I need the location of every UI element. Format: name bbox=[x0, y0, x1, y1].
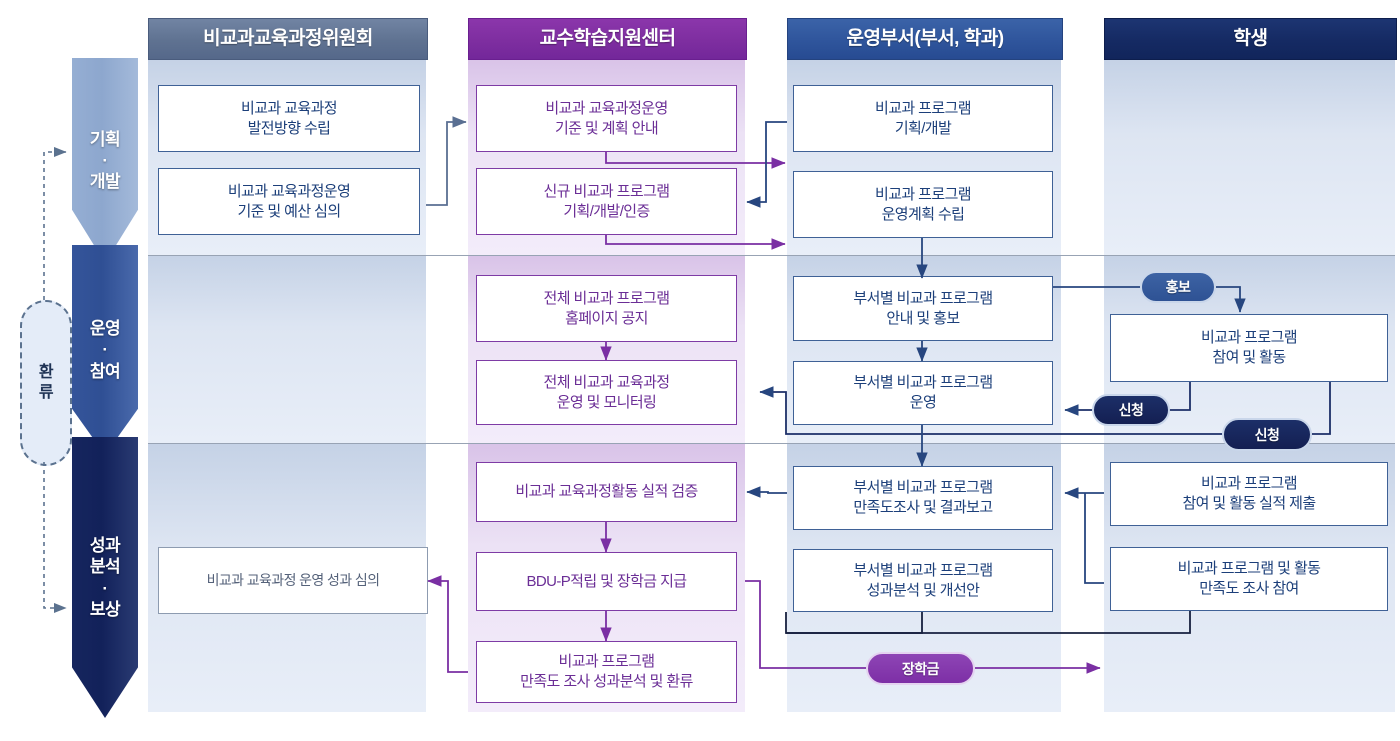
box-center-result-1-line1: 비교과 교육과정활동 실적 검증 bbox=[515, 483, 697, 500]
box-dept-operate-1[interactable]: 부서별 비교과 프로그램 안내 및 홍보 bbox=[793, 276, 1053, 341]
column-header-committee-label: 비교과교육과정위원회 bbox=[203, 28, 373, 49]
column-header-committee: 비교과교육과정위원회 bbox=[148, 18, 428, 60]
box-center-result-1[interactable]: 비교과 교육과정활동 실적 검증 bbox=[476, 462, 737, 522]
stage-plan-line1: 기획 bbox=[90, 129, 120, 150]
stage-operate-line1: 운영 bbox=[90, 318, 120, 339]
feedback-label-line2: 류 bbox=[39, 383, 53, 403]
row-divider-1 bbox=[148, 255, 1395, 256]
stage-result-line1: 성과 bbox=[90, 535, 120, 556]
box-center-result-3[interactable]: 비교과 프로그램 만족도 조사 성과분석 및 환류 bbox=[476, 641, 737, 703]
box-center-operate-1-line2: 홈페이지 공지 bbox=[565, 310, 648, 327]
box-dept-result-2[interactable]: 부서별 비교과 프로그램 성과분석 및 개선안 bbox=[793, 549, 1053, 612]
box-center-operate-1-line1: 전체 비교과 프로그램 bbox=[544, 290, 670, 307]
box-dept-result-2-line2: 성과분석 및 개선안 bbox=[867, 582, 980, 599]
box-dept-plan-1-line2: 기획/개발 bbox=[895, 120, 951, 137]
box-dept-operate-2-line1: 부서별 비교과 프로그램 bbox=[853, 374, 992, 391]
box-dept-operate-1-line1: 부서별 비교과 프로그램 bbox=[853, 290, 992, 307]
column-header-dept-label: 운영부서(부서, 학과) bbox=[846, 28, 1003, 49]
box-center-plan-2[interactable]: 신규 비교과 프로그램 기획/개발/인증 bbox=[476, 168, 737, 235]
box-dept-operate-1-line2: 안내 및 홍보 bbox=[886, 310, 959, 327]
box-center-operate-1[interactable]: 전체 비교과 프로그램 홈페이지 공지 bbox=[476, 275, 737, 342]
box-dept-result-1[interactable]: 부서별 비교과 프로그램 만족도조사 및 결과보고 bbox=[793, 466, 1053, 530]
stage-arrow-result: 성과 분석 · 보상 bbox=[72, 437, 138, 718]
badge-apply-2[interactable]: 신청 bbox=[1222, 418, 1312, 451]
wire-feedback-to-result bbox=[44, 462, 66, 608]
stage-plan-line2: 개발 bbox=[90, 171, 120, 192]
stage-arrow-operate: 운영 · 참여 bbox=[72, 245, 138, 455]
box-center-result-2-line1: BDU-P적립 및 장학금 지급 bbox=[527, 573, 687, 590]
row-divider-2 bbox=[148, 443, 1395, 444]
box-student-operate-1[interactable]: 비교과 프로그램 참여 및 활동 bbox=[1110, 314, 1388, 382]
band-committee-operate bbox=[148, 256, 426, 443]
badge-scholarship-label: 장학금 bbox=[902, 659, 939, 679]
box-dept-operate-2-line2: 운영 bbox=[910, 394, 936, 411]
box-dept-result-2-line1: 부서별 비교과 프로그램 bbox=[853, 562, 992, 579]
column-header-dept: 운영부서(부서, 학과) bbox=[787, 18, 1063, 60]
column-header-center-label: 교수학습지원센터 bbox=[540, 28, 676, 49]
box-dept-plan-2-line2: 운영계획 수립 bbox=[882, 206, 965, 223]
column-header-center: 교수학습지원센터 bbox=[468, 18, 747, 60]
box-center-operate-2[interactable]: 전체 비교과 교육과정 운영 및 모니터링 bbox=[476, 360, 737, 425]
box-committee-plan-1-line1: 비교과 교육과정 bbox=[241, 100, 337, 117]
box-committee-plan-2[interactable]: 비교과 교육과정운영 기준 및 예산 심의 bbox=[158, 168, 420, 235]
stage-result-line3: 보상 bbox=[90, 599, 120, 620]
box-center-result-3-line1: 비교과 프로그램 bbox=[559, 653, 655, 670]
band-student-plan bbox=[1104, 60, 1395, 255]
box-student-result-2[interactable]: 비교과 프로그램 및 활동 만족도 조사 참여 bbox=[1110, 547, 1388, 611]
box-committee-result-1[interactable]: 비교과 교육과정 운영 성과 심의 bbox=[158, 547, 428, 614]
box-student-operate-1-line1: 비교과 프로그램 bbox=[1201, 329, 1297, 346]
box-committee-plan-2-line2: 기준 및 예산 심의 bbox=[237, 203, 340, 220]
box-dept-plan-1-line1: 비교과 프로그램 bbox=[875, 100, 971, 117]
box-dept-plan-1[interactable]: 비교과 프로그램 기획/개발 bbox=[793, 85, 1053, 152]
column-header-student: 학생 bbox=[1104, 18, 1397, 60]
box-center-plan-1-line2: 기준 및 계획 안내 bbox=[555, 120, 658, 137]
badge-scholarship[interactable]: 장학금 bbox=[866, 652, 975, 685]
box-center-plan-1[interactable]: 비교과 교육과정운영 기준 및 계획 안내 bbox=[476, 85, 737, 152]
badge-promotion-label: 홍보 bbox=[1166, 277, 1191, 297]
box-center-result-3-line2: 만족도 조사 성과분석 및 환류 bbox=[520, 673, 693, 690]
badge-apply-2-label: 신청 bbox=[1255, 425, 1280, 445]
column-header-student-label: 학생 bbox=[1234, 28, 1268, 49]
box-committee-plan-2-line1: 비교과 교육과정운영 bbox=[228, 183, 350, 200]
badge-promotion[interactable]: 홍보 bbox=[1140, 271, 1216, 303]
process-flow-diagram: 비교과교육과정위원회 교수학습지원센터 운영부서(부서, 학과) 학생 기획 ·… bbox=[0, 0, 1400, 741]
box-committee-plan-1-line2: 발전방향 수립 bbox=[248, 120, 331, 137]
box-center-result-2[interactable]: BDU-P적립 및 장학금 지급 bbox=[476, 552, 737, 611]
box-center-operate-2-line2: 운영 및 모니터링 bbox=[557, 394, 657, 411]
wire-stu-res2-to-bus bbox=[1085, 493, 1104, 583]
box-committee-result-1-line1: 비교과 교육과정 운영 성과 심의 bbox=[207, 572, 380, 588]
box-center-operate-2-line1: 전체 비교과 교육과정 bbox=[544, 374, 670, 391]
box-center-plan-2-line2: 기획/개발/인증 bbox=[563, 203, 649, 220]
wire-feedback-to-plan bbox=[44, 152, 66, 300]
feedback-loop-pill: 환 류 bbox=[20, 300, 72, 466]
stage-result-line2: 분석 bbox=[90, 556, 120, 577]
badge-apply-1-label: 신청 bbox=[1119, 400, 1144, 420]
box-dept-operate-2[interactable]: 부서별 비교과 프로그램 운영 bbox=[793, 361, 1053, 425]
box-center-plan-1-line1: 비교과 교육과정운영 bbox=[545, 100, 667, 117]
wire-committee-to-center bbox=[426, 122, 466, 205]
box-student-result-2-line1: 비교과 프로그램 및 활동 bbox=[1178, 560, 1321, 577]
stage-operate-dot: · bbox=[90, 339, 120, 360]
box-student-result-2-line2: 만족도 조사 참여 bbox=[1199, 580, 1299, 597]
badge-apply-1[interactable]: 신청 bbox=[1092, 394, 1170, 426]
box-student-result-1[interactable]: 비교과 프로그램 참여 및 활동 실적 제출 bbox=[1110, 462, 1388, 526]
box-dept-result-1-line1: 부서별 비교과 프로그램 bbox=[853, 479, 992, 496]
wire-dept-res1-to-center-res1 bbox=[747, 492, 787, 493]
feedback-label-line1: 환 bbox=[39, 363, 53, 383]
box-committee-plan-1[interactable]: 비교과 교육과정 발전방향 수립 bbox=[158, 85, 420, 152]
box-student-result-1-line1: 비교과 프로그램 bbox=[1201, 475, 1297, 492]
stage-plan-dot: · bbox=[90, 150, 120, 171]
box-dept-result-1-line2: 만족도조사 및 결과보고 bbox=[853, 499, 992, 516]
stage-operate-line2: 참여 bbox=[90, 361, 120, 382]
box-student-operate-1-line2: 참여 및 활동 bbox=[1212, 349, 1285, 366]
box-student-result-1-line2: 참여 및 활동 실적 제출 bbox=[1182, 495, 1315, 512]
stage-arrow-plan: 기획 · 개발 bbox=[72, 58, 138, 263]
box-dept-plan-2-line1: 비교과 프로그램 bbox=[875, 186, 971, 203]
stage-result-dot: · bbox=[90, 578, 120, 599]
box-center-plan-2-line1: 신규 비교과 프로그램 bbox=[544, 183, 670, 200]
box-dept-plan-2[interactable]: 비교과 프로그램 운영계획 수립 bbox=[793, 171, 1053, 238]
wire-center-res3-to-committee bbox=[428, 581, 468, 672]
wire-dept1-to-center2 bbox=[747, 122, 787, 202]
